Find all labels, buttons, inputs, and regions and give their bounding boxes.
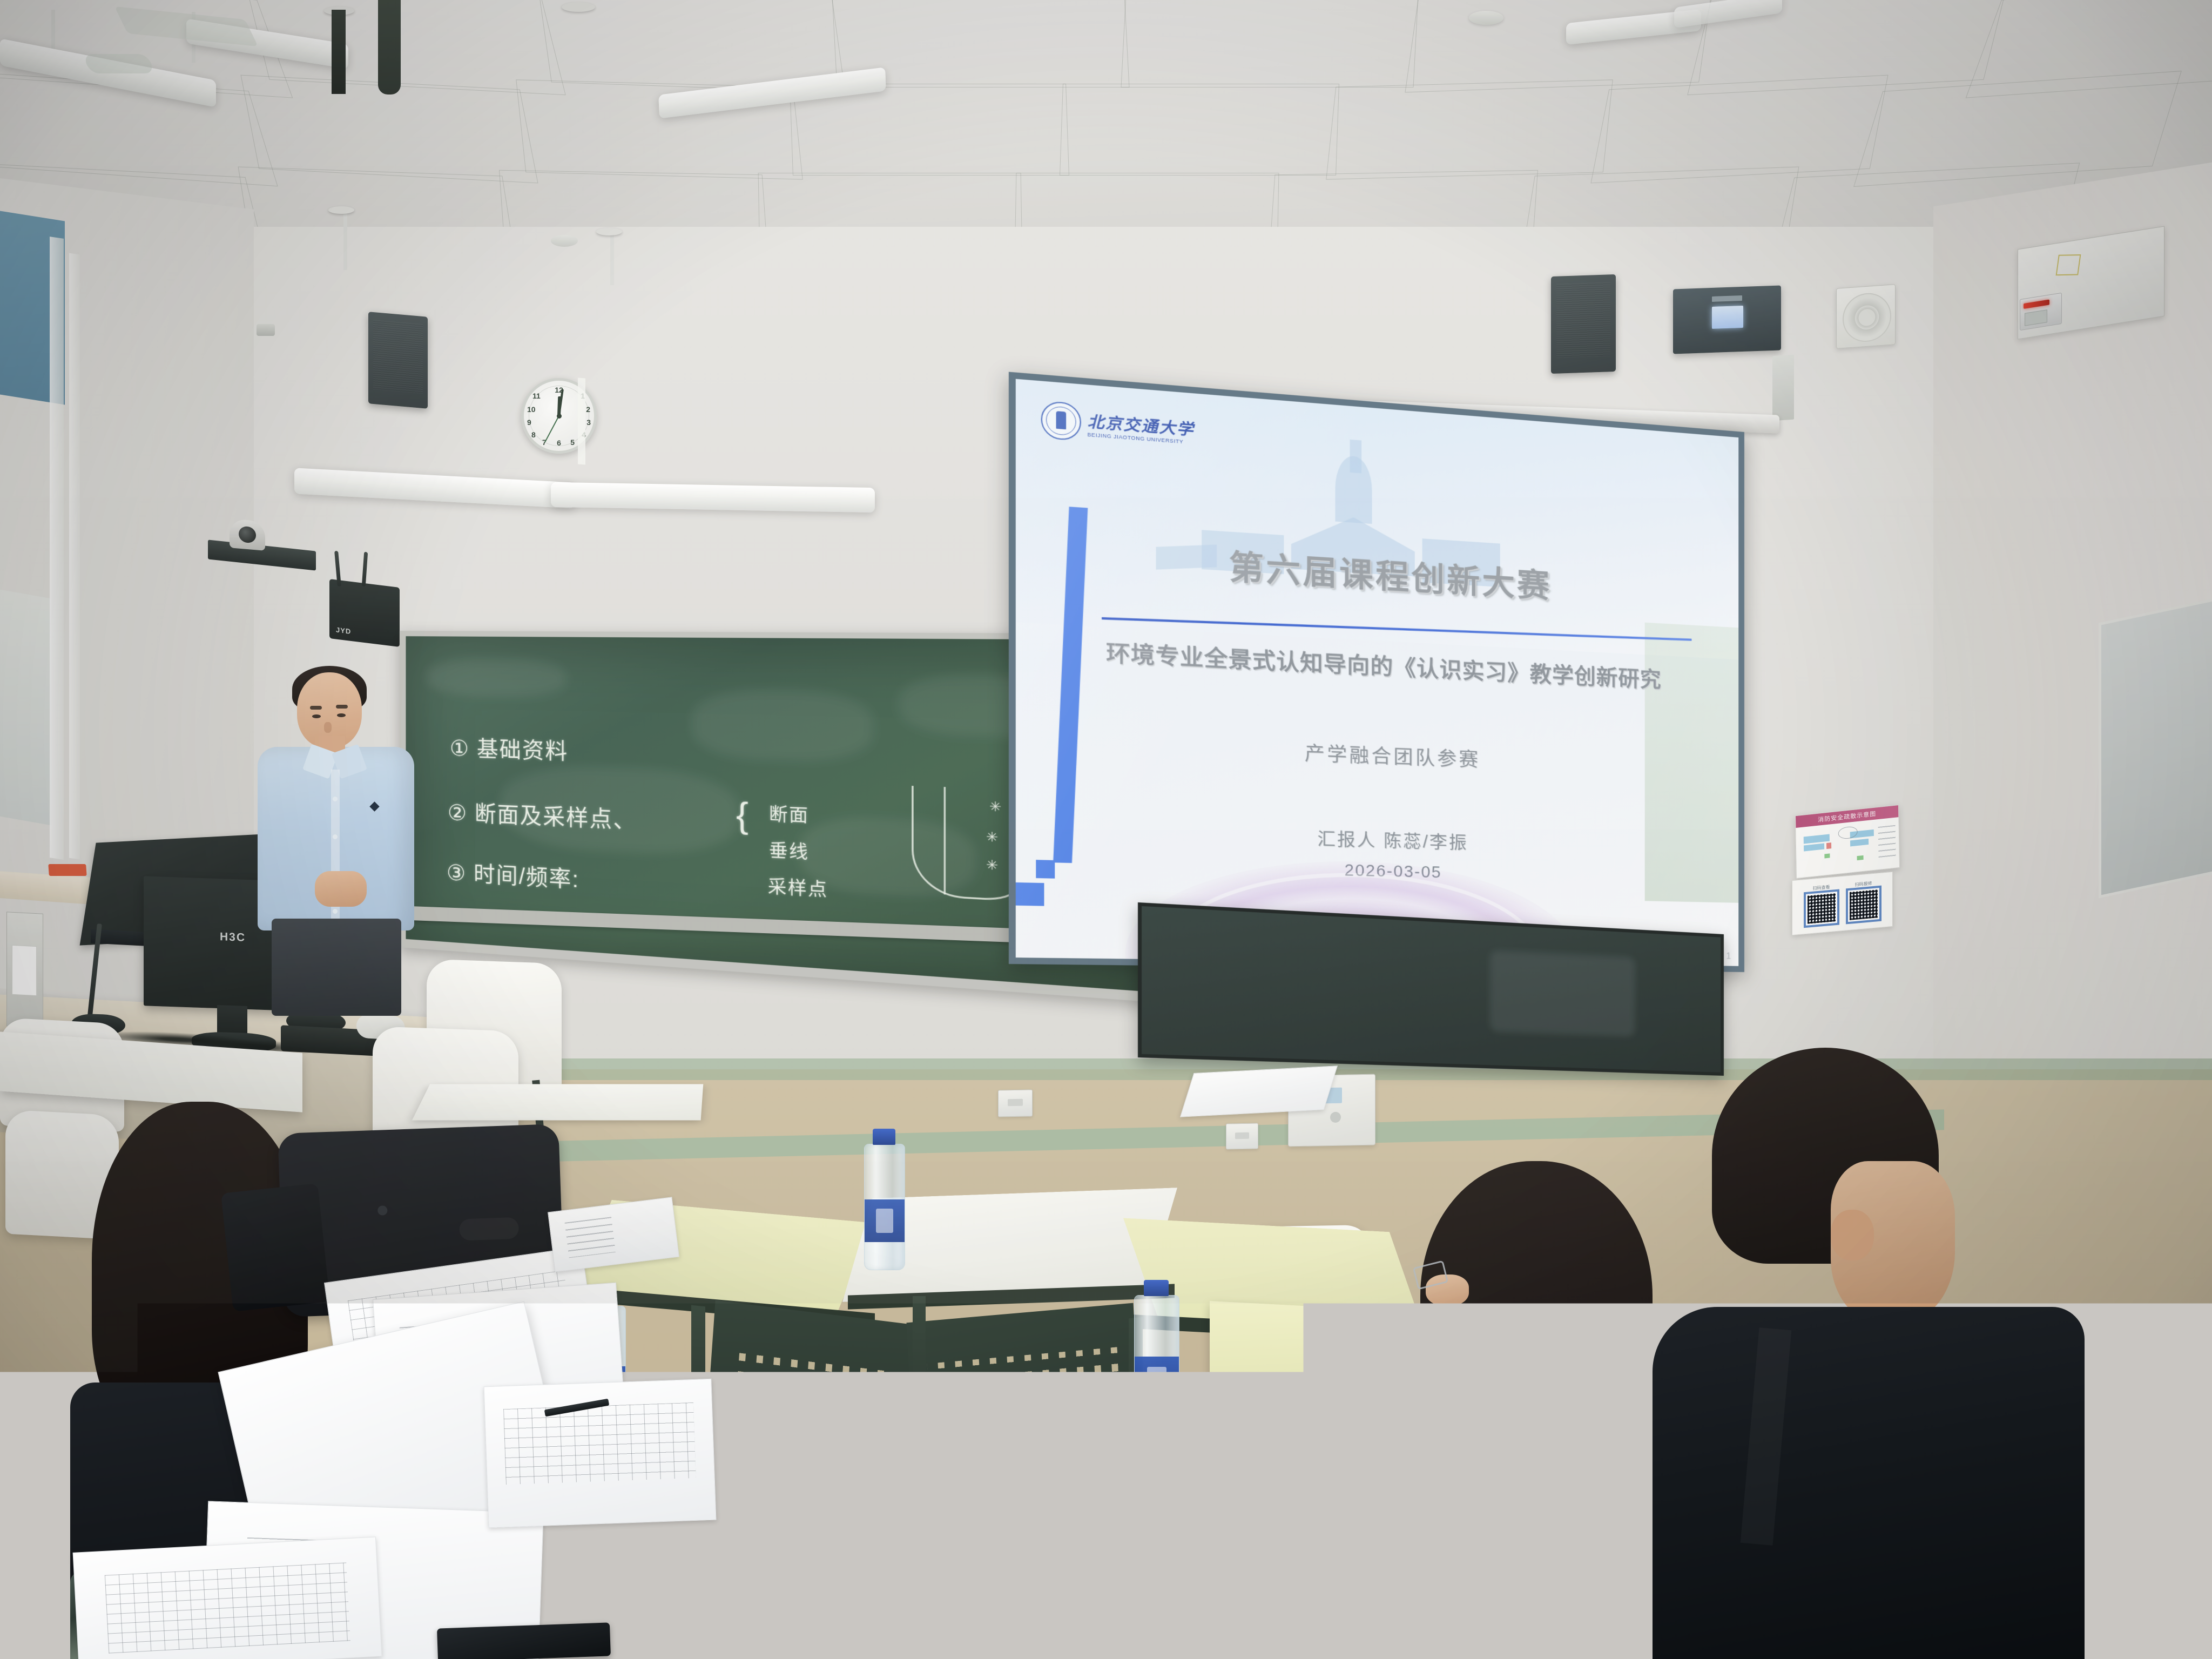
audience-person-right — [1653, 1048, 2085, 1659]
smoke-detector — [1469, 11, 1503, 25]
audience-r-ear — [1831, 1210, 1874, 1260]
slide-team-line: 产学融合团队参赛 — [1016, 726, 1738, 781]
board-brace-item-3: 采样点 — [768, 872, 828, 901]
wall-cable-clip — [1772, 355, 1794, 421]
curtain-a — [50, 237, 64, 860]
tv-reflection — [1490, 950, 1635, 1036]
vent-grille — [1843, 292, 1891, 343]
projection-screen[interactable]: 北京交通大学 BEIJING JIAOTONG UNIVERSITY 第六届课程… — [1009, 372, 1744, 972]
presenter-clasped-hands — [315, 871, 367, 907]
screen-frame: 北京交通大学 BEIJING JIAOTONG UNIVERSITY 第六届课程… — [1009, 372, 1744, 972]
presenter-person — [246, 662, 429, 1007]
score-sheet-6[interactable] — [594, 1597, 812, 1659]
audience-r-dark-shirt — [1653, 1307, 2085, 1659]
bottle-label-1 — [865, 1199, 905, 1242]
table-front-white — [875, 1440, 1285, 1574]
light-hanger-4 — [610, 232, 614, 285]
bottle-label-4 — [665, 1527, 714, 1580]
board-line-1: ① 基础资料 — [450, 730, 568, 766]
water-bottle-5[interactable] — [1118, 1426, 1168, 1604]
panel-controller — [2020, 293, 2062, 331]
bottle-cap-5[interactable] — [1129, 1426, 1157, 1442]
hanger-plate-4 — [596, 228, 622, 235]
curtain-b — [69, 253, 80, 860]
score-sheet-4[interactable] — [73, 1536, 382, 1659]
ceiling-fan-blade-3 — [83, 54, 154, 73]
water-bottle-1[interactable] — [864, 1129, 904, 1269]
qr-code-group: 扫码查看 扫码报修 — [1792, 872, 1892, 929]
window-glass — [0, 590, 51, 826]
board-line-3: ③ 时间/频率: — [447, 855, 579, 894]
shirt-button-1 — [333, 797, 338, 801]
evacuation-poster: 消防安全疏散示意图 — [1795, 805, 1900, 879]
board-diagram-line — [944, 787, 946, 894]
wall-outlet-2[interactable] — [1226, 1123, 1258, 1149]
qr-frame-1 — [1804, 889, 1839, 928]
qr-code-1[interactable] — [1808, 893, 1836, 924]
wall-outlet-1[interactable] — [998, 1089, 1033, 1117]
slide-building-antenna — [1350, 440, 1362, 474]
audience-cr-hand — [1210, 1636, 1388, 1659]
classroom-scene: 12 1 2 3 4 5 6 7 8 9 10 11 JYD — [0, 0, 2212, 1659]
presentation-slide: 北京交通大学 BEIJING JIAOTONG UNIVERSITY 第六届课程… — [1016, 379, 1738, 966]
qr-frame-2 — [1846, 886, 1881, 925]
sprinkler-head — [257, 324, 275, 336]
pc-tower — [6, 912, 43, 1028]
slide-accent-bar-low — [1016, 882, 1044, 906]
board-line-2: ② 断面及采样点、 — [448, 794, 637, 835]
wall-speaker-left — [368, 312, 428, 409]
qr-item-2[interactable]: 扫码报修 — [1846, 880, 1881, 925]
panel-lcd-display — [2025, 309, 2047, 326]
ceiling-fan-rod-1 — [332, 10, 346, 94]
ceiling-fan-blade — [378, 0, 401, 95]
red-marker[interactable] — [48, 864, 86, 876]
qr-item-1[interactable]: 扫码查看 — [1804, 884, 1839, 928]
panel-status-led — [2024, 299, 2049, 309]
clock-hanger-rod — [578, 378, 585, 465]
right-glass-panel — [2099, 598, 2212, 899]
bottle-label-5 — [1118, 1513, 1168, 1569]
fan-mount-2 — [562, 2, 595, 12]
hanger-plate-3 — [328, 206, 354, 214]
board-diagram-mark-2: ✳ — [986, 829, 998, 845]
table-back-1 — [412, 1084, 703, 1120]
pc-label-sticker — [12, 945, 37, 996]
score-sheet-8[interactable] — [1413, 1423, 1580, 1559]
ceiling-dome-2 — [551, 235, 578, 247]
board-diagram-mark-3: ✳ — [986, 857, 998, 873]
bottle-label-3 — [1135, 1357, 1179, 1404]
phone-on-table[interactable] — [437, 1622, 611, 1659]
av-receiver-device — [1673, 286, 1781, 354]
board-brace-item-1: 断面 — [769, 799, 809, 827]
water-bottle-3[interactable] — [1134, 1280, 1178, 1434]
slide-page-number: 1 — [1726, 951, 1731, 962]
wall-clock: 12 1 2 3 4 5 6 7 8 9 10 11 — [521, 378, 597, 454]
back-table-paper-2[interactable] — [1180, 1065, 1338, 1117]
jyd-router: JYD — [329, 579, 400, 647]
bjtu-seal-icon — [1041, 401, 1081, 441]
bag-on-chair — [221, 1183, 330, 1312]
bottle-cap-3[interactable] — [1144, 1280, 1169, 1296]
light-hanger-3 — [343, 211, 347, 270]
board-diagram-star: ✳ — [989, 799, 1002, 815]
board-brace: { — [736, 794, 750, 836]
shirt-button-2 — [333, 834, 338, 839]
wall-vent-box — [1836, 284, 1896, 349]
wall-speaker-right — [1551, 274, 1616, 374]
board-brace-item-2: 垂线 — [769, 835, 809, 864]
qr-board: 扫码查看 扫码报修 — [1792, 872, 1893, 935]
presenter-trousers — [272, 919, 401, 1016]
slide-presenter-line: 汇报人 陈蕊/李振 — [1016, 816, 1738, 861]
qr-code-2[interactable] — [1850, 889, 1878, 920]
device-lcd-screen — [1712, 306, 1743, 329]
shirt-button-4 — [333, 909, 338, 914]
h3c-brand-label: H3C — [220, 930, 246, 945]
bottle-cap-1[interactable] — [873, 1129, 895, 1145]
